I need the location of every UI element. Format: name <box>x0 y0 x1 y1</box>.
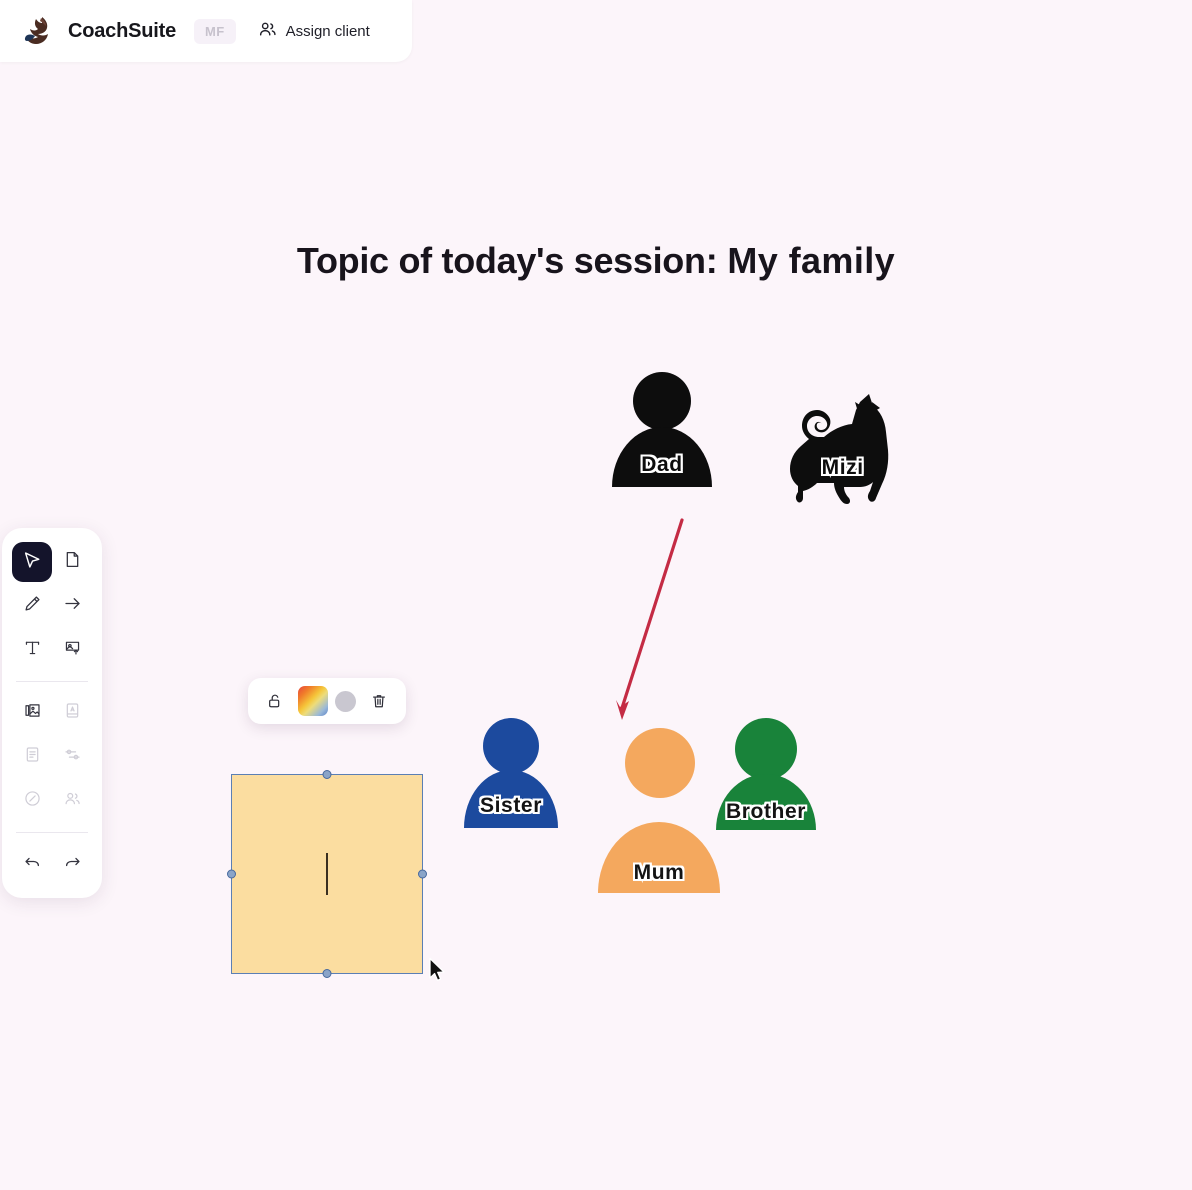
assign-client-label: Assign client <box>286 23 370 40</box>
figure-brother[interactable]: Brother <box>716 718 816 830</box>
sticky-note[interactable] <box>231 774 423 974</box>
app-title: CoachSuite <box>68 20 176 43</box>
redo-arrow-icon <box>63 852 82 876</box>
document-lines-icon <box>23 745 42 769</box>
image-upload-tool[interactable] <box>52 630 92 670</box>
session-title-topic: My family <box>727 240 895 281</box>
resize-handle-right[interactable] <box>418 870 427 879</box>
pencil-icon <box>23 594 42 618</box>
text-t-icon <box>23 638 42 662</box>
settings-tool <box>52 737 92 777</box>
card-letter-a-icon <box>63 701 82 725</box>
arrow-tool[interactable] <box>52 586 92 626</box>
mizi-label: Mizi <box>822 456 864 480</box>
brother-label: Brother <box>726 800 806 824</box>
toolbar-divider-1 <box>16 681 88 682</box>
fox-logo-icon <box>22 14 56 48</box>
figure-mizi-cat[interactable]: Mizi <box>772 386 896 504</box>
draw-tool[interactable] <box>12 586 52 626</box>
color-gradient-swatch[interactable] <box>298 686 328 716</box>
image-upload-icon <box>63 638 82 662</box>
compass-tool <box>12 781 52 821</box>
compass-icon <box>23 789 42 813</box>
people-icon <box>63 789 82 813</box>
resize-handle-top[interactable] <box>323 770 332 779</box>
people-icon <box>258 20 277 43</box>
figure-sister[interactable]: Sister <box>464 718 558 828</box>
figure-dad[interactable]: Dad <box>612 372 712 487</box>
redo-button[interactable] <box>52 844 92 884</box>
sister-label: Sister <box>480 794 542 818</box>
brother-head <box>735 718 797 780</box>
opacity-dot[interactable] <box>335 691 356 712</box>
sister-head <box>483 718 539 774</box>
user-initials-badge[interactable]: MF <box>194 19 236 44</box>
resize-handle-bottom[interactable] <box>323 969 332 978</box>
text-caret <box>326 853 328 895</box>
assign-client-button[interactable]: Assign client <box>258 20 370 43</box>
undo-button[interactable] <box>12 844 52 884</box>
arrow-right-icon <box>63 594 82 618</box>
gallery-tool[interactable] <box>12 693 52 733</box>
note-tool[interactable] <box>52 542 92 582</box>
toolbar-divider-2 <box>16 832 88 833</box>
element-style-toolbar[interactable] <box>248 678 406 724</box>
unlock-padlock-icon[interactable] <box>260 686 290 716</box>
mouse-cursor <box>428 957 448 985</box>
text-tool[interactable] <box>12 630 52 670</box>
left-toolbar[interactable] <box>2 528 102 898</box>
undo-arrow-icon <box>23 852 42 876</box>
figure-mum[interactable]: Mum <box>598 728 720 893</box>
dad-head <box>633 372 691 430</box>
red-arrow-dad-to-mum[interactable] <box>596 508 706 730</box>
whiteboard-canvas[interactable]: CoachSuite MF Assign client Topic of tod… <box>0 0 1192 1190</box>
resize-handle-left[interactable] <box>227 870 236 879</box>
page-icon <box>63 550 82 574</box>
cat-silhouette-icon <box>772 386 896 504</box>
app-header: CoachSuite MF Assign client <box>0 0 412 62</box>
trash-icon[interactable] <box>364 686 394 716</box>
mum-head <box>625 728 695 798</box>
select-cursor-tool[interactable] <box>12 542 52 582</box>
dad-label: Dad <box>641 453 682 477</box>
mum-label: Mum <box>634 861 685 885</box>
document-tool <box>12 737 52 777</box>
images-stack-icon <box>23 701 42 725</box>
flashcard-tool <box>52 693 92 733</box>
participants-tool <box>52 781 92 821</box>
session-title: Topic of today's session:My family <box>0 240 1192 282</box>
session-title-lead: Topic of today's session: <box>297 240 717 281</box>
cursor-icon <box>22 550 42 575</box>
sliders-icon <box>63 745 82 769</box>
